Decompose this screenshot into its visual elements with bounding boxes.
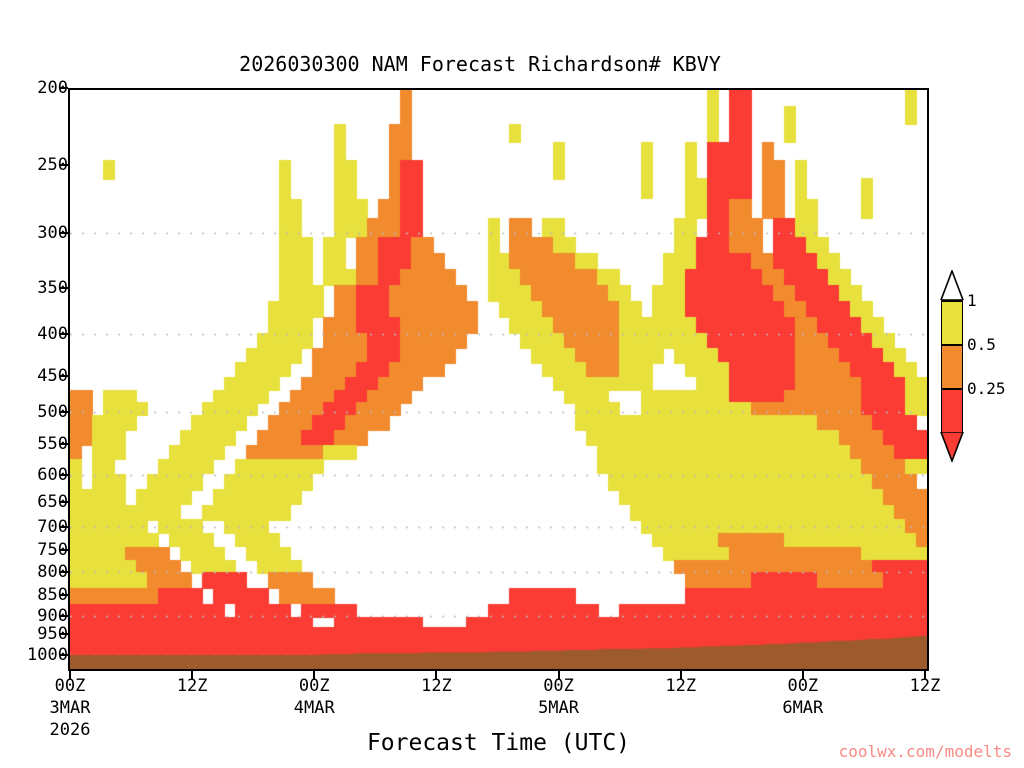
- colorbar-segment-0.5-to-1: [941, 300, 963, 344]
- colorbar-cap-below-min: [940, 432, 964, 462]
- x-axis-date-label: 5MAR: [538, 698, 579, 718]
- x-axis-tick-label: 12Z: [910, 676, 941, 696]
- colorbar-tick-label: 0.25: [967, 379, 1006, 398]
- colorbar-segment-below-0.25: [941, 388, 963, 432]
- x-axis-date-label: 4MAR: [294, 698, 335, 718]
- colorbar-legend: 10.50.25: [941, 300, 963, 480]
- watermark: coolwx.com/modelts: [839, 742, 1012, 761]
- colorbar-tick-label: 1: [967, 291, 977, 310]
- colorbar-segment-0.25-to-0.5: [941, 344, 963, 388]
- colorbar-divider: [941, 344, 963, 346]
- colorbar-divider: [941, 300, 963, 302]
- x-axis-title: Forecast Time (UTC): [68, 730, 929, 756]
- x-axis-tick-label: 12Z: [177, 676, 208, 696]
- x-axis: 00Z3MAR202612Z00Z4MAR12Z00Z5MAR12Z00Z6MA…: [0, 0, 1024, 768]
- colorbar-divider: [941, 388, 963, 390]
- x-axis-tick-label: 00Z: [543, 676, 574, 696]
- x-axis-tick-label: 00Z: [55, 676, 86, 696]
- x-axis-tick-label: 12Z: [665, 676, 696, 696]
- chart-figure: 2026030300 NAM Forecast Richardson# KBVY…: [0, 0, 1024, 768]
- x-axis-tick-label: 00Z: [299, 676, 330, 696]
- colorbar-tick-label: 0.5: [967, 335, 996, 354]
- x-axis-date-label: 3MAR: [50, 698, 91, 718]
- x-axis-tick-label: 12Z: [421, 676, 452, 696]
- x-axis-date-label: 6MAR: [782, 698, 823, 718]
- x-axis-tick-label: 00Z: [787, 676, 818, 696]
- colorbar-cap-above-max: [940, 270, 964, 300]
